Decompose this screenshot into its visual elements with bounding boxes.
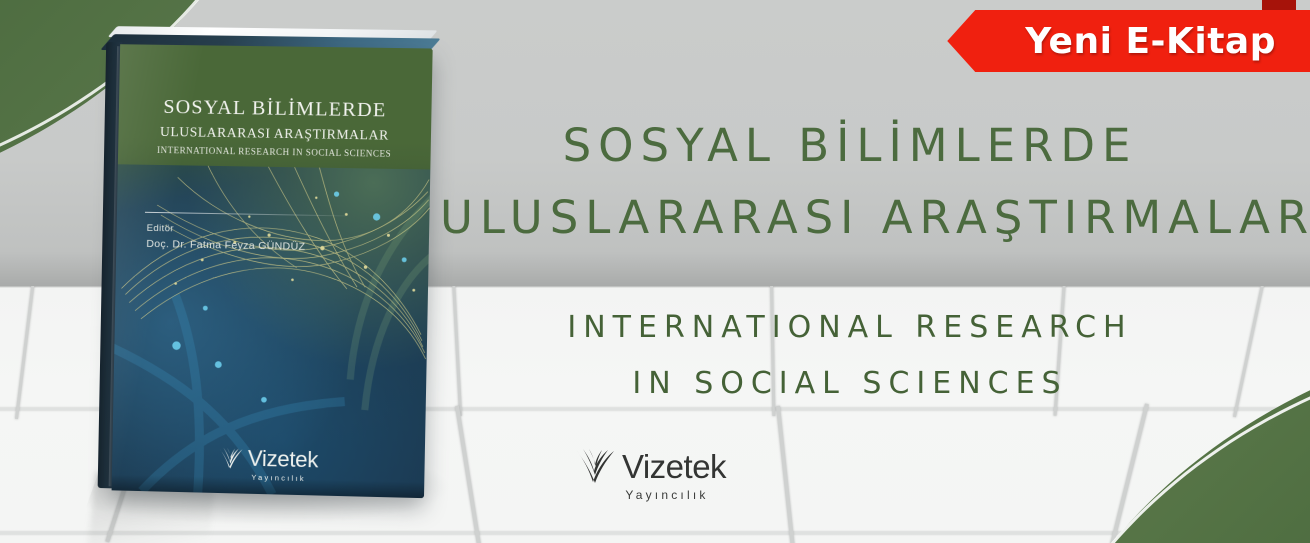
- subtitle-block: INTERNATIONAL RESEARCH IN SOCIAL SCIENCE…: [440, 300, 1260, 412]
- book-body: SOSYAL BİLİMLERDE ULUSLARARASI ARAŞTIRMA…: [95, 26, 437, 504]
- headline-block: SOSYAL BİLİMLERDE ULUSLARARASI ARAŞTIRMA…: [440, 110, 1260, 254]
- book-front-cover: SOSYAL BİLİMLERDE ULUSLARARASI ARAŞTIRMA…: [112, 44, 433, 498]
- headline-line-2: ULUSLARARASI ARAŞTIRMALAR: [440, 182, 1260, 254]
- ribbon-label: Yeni E-Kitap: [1025, 21, 1276, 62]
- publisher-tagline: Yayıncılık: [625, 488, 708, 502]
- book-editor-name: Doç. Dr. Fatma Feyza GÜNDÜZ: [146, 236, 305, 255]
- vizetek-v-mark-icon: [217, 447, 244, 470]
- vizetek-v-mark-icon: [574, 448, 616, 484]
- book-title-line-1: SOSYAL BİLİMLERDE: [119, 94, 432, 123]
- ribbon-body[interactable]: Yeni E-Kitap: [947, 10, 1310, 72]
- floor-grout-vertical: [776, 406, 795, 543]
- book-title-line-2: ULUSLARARASI ARAŞTIRMALAR: [118, 121, 431, 145]
- book-cover-logo-row: Vizetek: [217, 447, 318, 472]
- book-cover-editor-block: Editör Doç. Dr. Fatma Feyza GÜNDÜZ: [146, 221, 306, 255]
- book-cover-title: SOSYAL BİLİMLERDE ULUSLARARASI ARAŞTIRMA…: [118, 94, 432, 161]
- floor-grout-vertical: [15, 286, 35, 419]
- publisher-logo: Vizetek Yayıncılık: [560, 448, 740, 502]
- publisher-name: Vizetek: [622, 450, 726, 483]
- book-cover-publisher-name: Vizetek: [248, 448, 319, 472]
- publisher-logo-row: Vizetek: [574, 448, 726, 484]
- subtitle-line-2: IN SOCIAL SCIENCES: [440, 356, 1260, 412]
- floor-grout-vertical: [455, 406, 482, 543]
- subtitle-line-1: INTERNATIONAL RESEARCH: [440, 300, 1260, 356]
- ebook-promo-banner: Yeni E-Kitap SOSYAL BİLİMLERDE ULUSLARAR…: [0, 0, 1310, 543]
- new-ebook-ribbon[interactable]: Yeni E-Kitap: [947, 10, 1310, 72]
- book-mockup[interactable]: SOSYAL BİLİMLERDE ULUSLARARASI ARAŞTIRMA…: [100, 26, 430, 496]
- headline-line-1: SOSYAL BİLİMLERDE: [440, 110, 1260, 182]
